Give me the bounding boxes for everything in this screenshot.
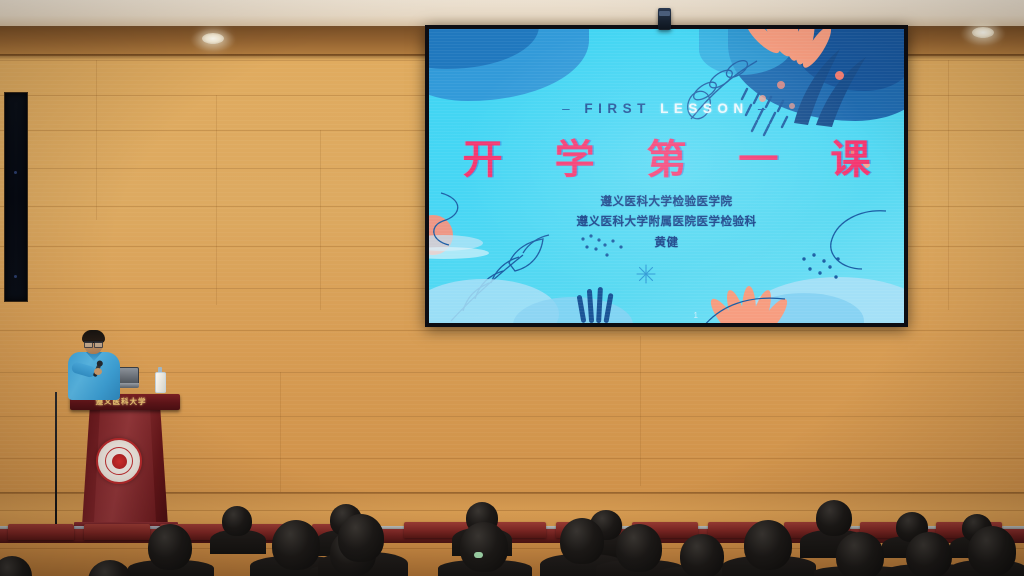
audience-area [0, 498, 1024, 576]
slide-presenter-name: 黄健 [429, 234, 904, 250]
glasses-icon [84, 341, 103, 346]
attendee-head [906, 532, 952, 576]
ceiling-spotlight-3 [972, 27, 994, 38]
ceiling-soffit [0, 0, 1024, 28]
projection-screen: – FIRST LESSON – 开 学 第 一 课 遵义医科大学检验医学院 遵… [429, 29, 904, 323]
hair-tie [474, 552, 483, 558]
attendee-head [88, 560, 132, 576]
attendee-head [222, 506, 252, 536]
presenter-hand [94, 368, 102, 375]
attendee-head [816, 500, 852, 536]
water-bottle [155, 367, 164, 391]
attendee-head [744, 520, 792, 570]
lecture-hall-scene: – FIRST LESSON – 开 学 第 一 课 遵义医科大学检验医学院 遵… [0, 0, 1024, 576]
eyebrow-word-lesson: LESSON [660, 101, 749, 116]
attendee-head [148, 524, 192, 570]
eyebrow-word-first: FIRST [584, 101, 651, 116]
spiky-bush [575, 281, 619, 323]
attendee-head [836, 532, 884, 576]
attendee-head [460, 522, 508, 572]
sparkle-icon [635, 263, 657, 285]
attendee-head [616, 524, 662, 572]
slide-title: 开 学 第 一 课 [429, 127, 904, 185]
slide-eyebrow: – FIRST LESSON – [429, 101, 904, 116]
slide-page-number: 1 [694, 311, 698, 320]
university-crest-icon [96, 438, 142, 484]
seat-back [8, 524, 74, 540]
attendee-head [968, 526, 1016, 576]
eyebrow-dash-right: – [758, 101, 771, 116]
ceiling-projector [658, 8, 671, 30]
wall-speaker-panel [4, 92, 28, 302]
seat-back [84, 524, 150, 540]
coral-flower-bottom [687, 277, 807, 323]
attendee-head [0, 556, 32, 576]
slide-subtitle-1: 遵义医科大学检验医学院 [429, 193, 904, 209]
eyebrow-dash-left: – [562, 101, 575, 116]
projection-screen-frame: – FIRST LESSON – 开 学 第 一 课 遵义医科大学检验医学院 遵… [425, 25, 908, 327]
presenter-figure [62, 330, 128, 400]
ceiling-spotlight-1 [202, 33, 224, 44]
attendee-head [338, 514, 384, 562]
slide-subtitle-2: 遵义医科大学附属医院医学检验科 [429, 213, 904, 229]
attendee-head [680, 534, 724, 576]
attendee-head [560, 518, 604, 564]
attendee-head [272, 520, 320, 570]
